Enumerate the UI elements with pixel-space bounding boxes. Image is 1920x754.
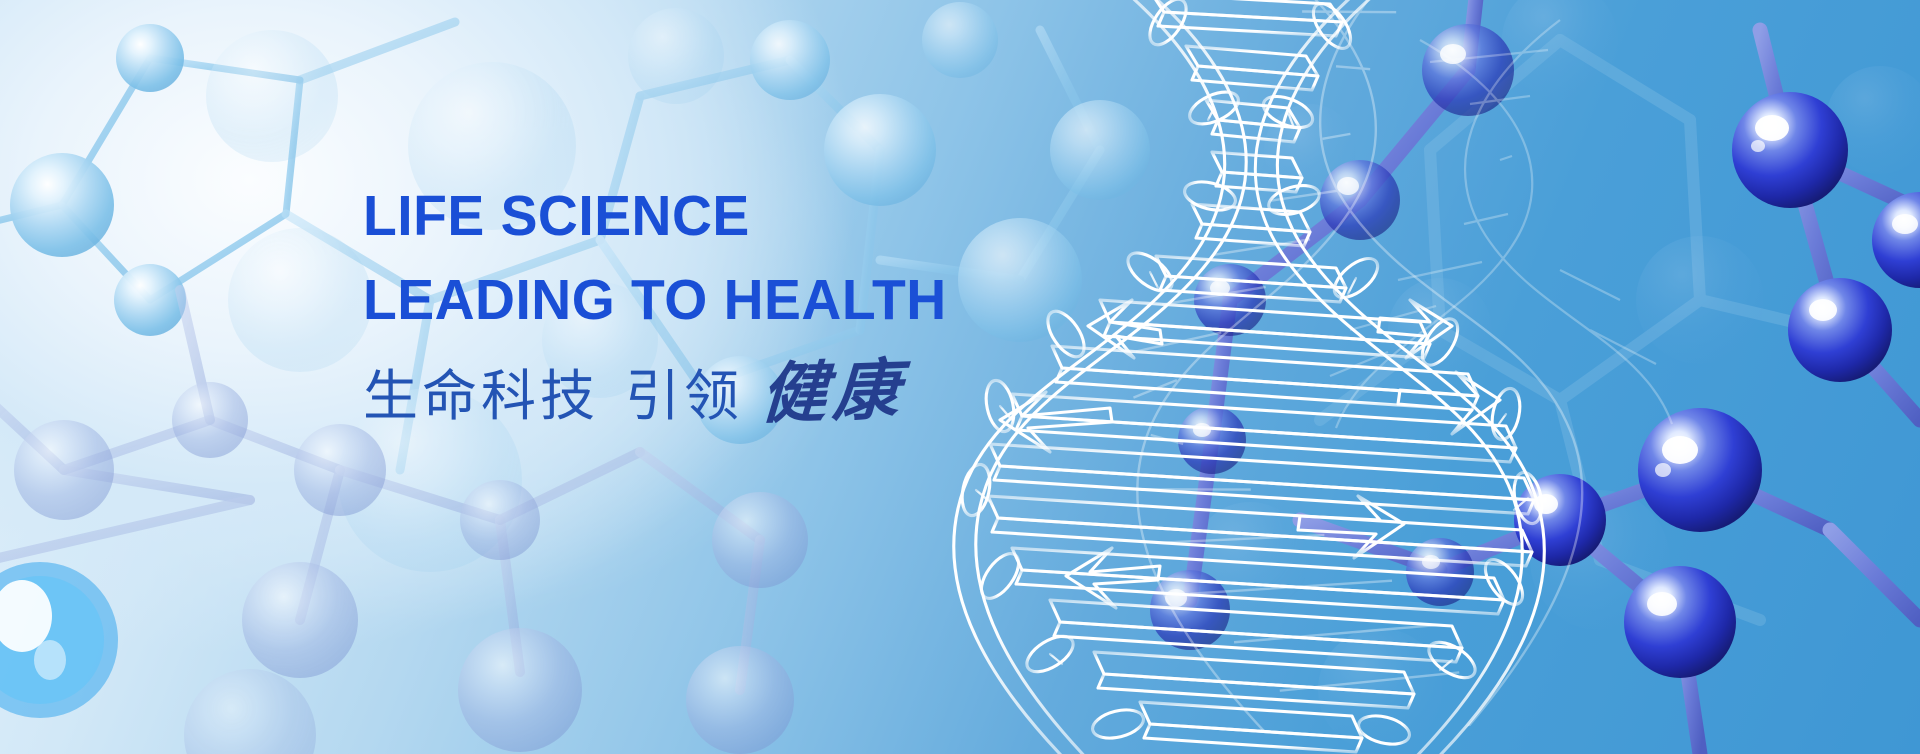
royal-sphere-group (1150, 24, 1920, 678)
subtitle-cn-part-2: 引领 (625, 365, 743, 427)
headline-line-1: LIFE SCIENCE (363, 186, 1100, 246)
subtitle-chinese-row: 生命科技 引领 健康 (363, 365, 1123, 427)
specular-highlights (1165, 44, 1918, 616)
headline-block: LIFE SCIENCE LEADING TO HEALTH 生命科技 引领 健… (363, 186, 1123, 427)
subtitle-cn-part-1: 生命科技 (363, 365, 599, 427)
headline-line-2: LEADING TO HEALTH (363, 270, 1100, 330)
subtitle-cn-brush: 健康 (759, 360, 907, 427)
glow-sphere (0, 562, 118, 718)
life-science-banner: LIFE SCIENCE LEADING TO HEALTH 生命科技 引领 健… (0, 0, 1920, 754)
